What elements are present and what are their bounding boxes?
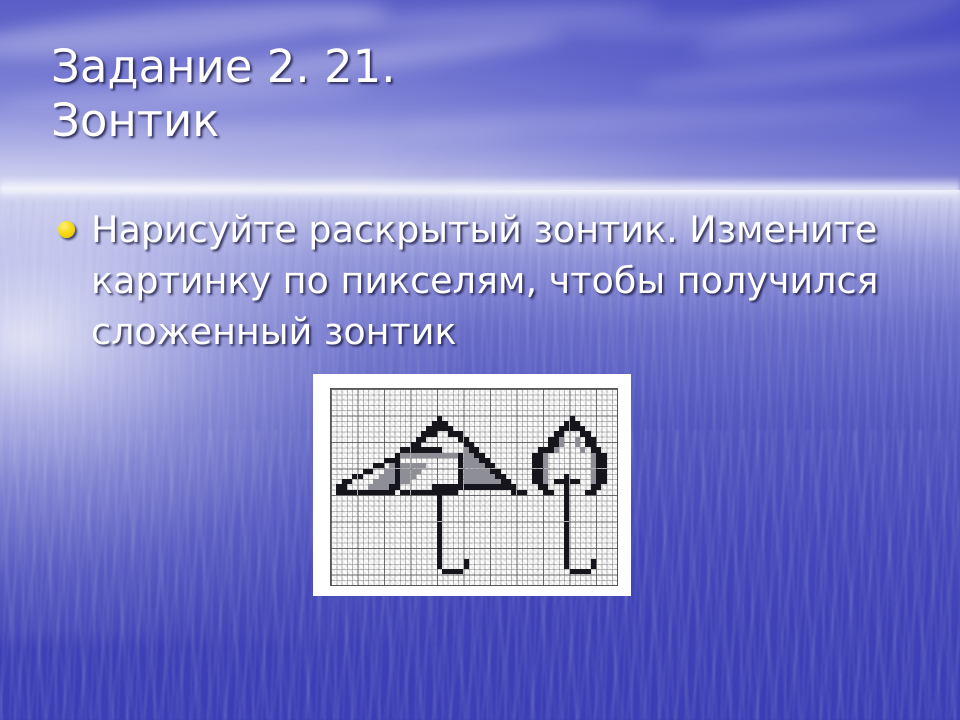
art-pixel — [554, 442, 559, 447]
bullet-item: Нарисуйте раскрытый зонтик. Измените кар… — [55, 204, 935, 357]
bullet-dot-icon — [58, 221, 75, 238]
slide-body: Нарисуйте раскрытый зонтик. Измените кар… — [55, 204, 935, 357]
art-pixel — [591, 490, 596, 495]
art-pixel — [585, 569, 590, 574]
art-pixel — [548, 490, 553, 495]
art-pixel — [601, 479, 606, 484]
art-pixel — [554, 447, 559, 452]
closed-umbrella-drawing — [331, 389, 617, 585]
graph-paper-grid — [330, 388, 618, 586]
art-pixel — [596, 484, 601, 489]
bullet-item-text: Нарисуйте раскрытый зонтик. Измените кар… — [91, 208, 879, 353]
slide-title: Задание 2. 21. Зонтик — [51, 40, 911, 148]
art-pixel — [559, 442, 564, 447]
slide: Задание 2. 21. Зонтик Нарисуйте раскрыты… — [0, 0, 960, 720]
art-pixel — [580, 447, 585, 452]
picture-umbrellas — [313, 374, 631, 596]
art-pixel — [591, 564, 596, 569]
art-pixel — [575, 479, 580, 484]
art-pixel — [559, 431, 564, 436]
art-pixel — [554, 479, 559, 484]
art-pixel — [591, 559, 596, 564]
horizon-band — [0, 176, 960, 202]
art-pixel — [548, 447, 553, 452]
